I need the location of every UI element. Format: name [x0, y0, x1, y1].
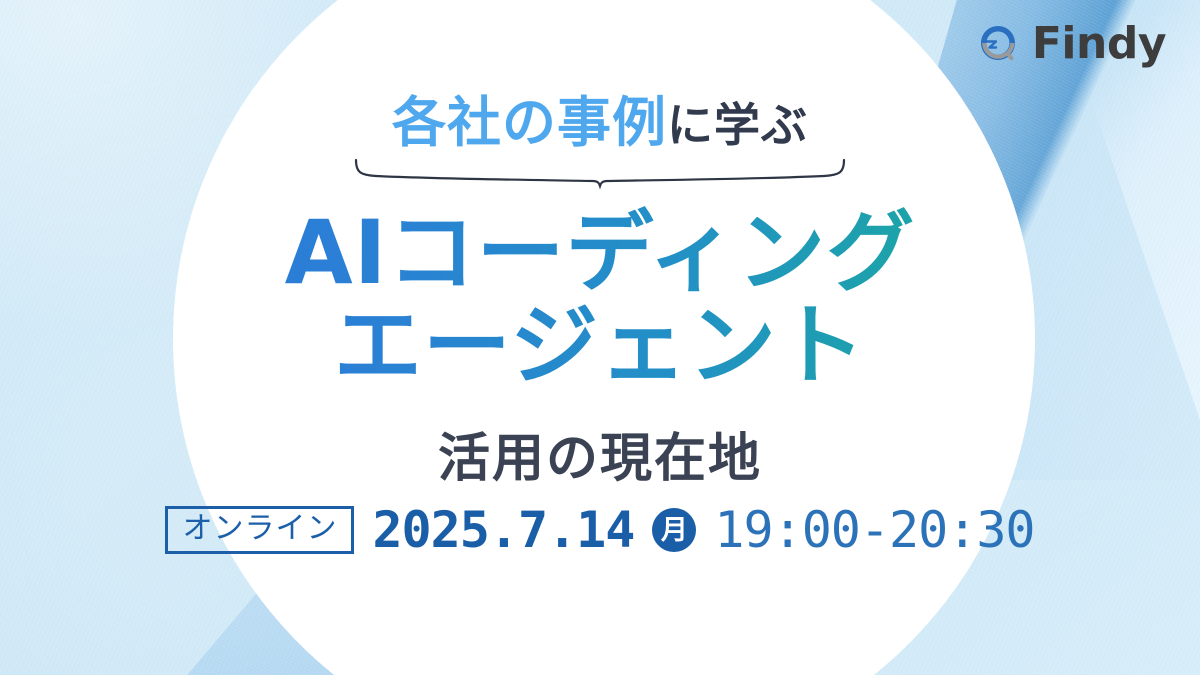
- event-date: 2025.7.14: [372, 505, 634, 555]
- hero-title-line-1: AIコーディング: [0, 206, 1200, 299]
- brand-name: Findy: [1032, 22, 1166, 66]
- curly-brace-icon: [350, 156, 850, 190]
- hero-kicker-rest: に学ぶ: [667, 98, 808, 152]
- event-time-range: 19:00-20:30: [714, 505, 1034, 555]
- hero-kicker: 各社の事例に学ぶ: [0, 96, 1200, 150]
- hero-title-line-2: エージェント: [0, 299, 1200, 392]
- event-format-badge: オンライン: [165, 506, 354, 554]
- hero-kicker-highlight: 各社の事例: [392, 91, 667, 154]
- event-banner: Findy 各社の事例に学ぶ AIコーディング エージェント 活用の現在地 オン…: [0, 0, 1200, 675]
- banner-content: Findy 各社の事例に学ぶ AIコーディング エージェント 活用の現在地 オン…: [0, 0, 1200, 675]
- hero-title: AIコーディング エージェント: [0, 206, 1200, 393]
- hero-subhead: 活用の現在地: [0, 416, 1200, 491]
- hero-kicker-group: 各社の事例に学ぶ: [0, 96, 1200, 190]
- event-datetime-row: オンライン 2025.7.14 月 19:00-20:30: [0, 505, 1200, 555]
- findy-q-logo-icon: [976, 22, 1020, 66]
- brand-logo: Findy: [976, 22, 1166, 66]
- event-weekday-badge: 月: [652, 508, 696, 552]
